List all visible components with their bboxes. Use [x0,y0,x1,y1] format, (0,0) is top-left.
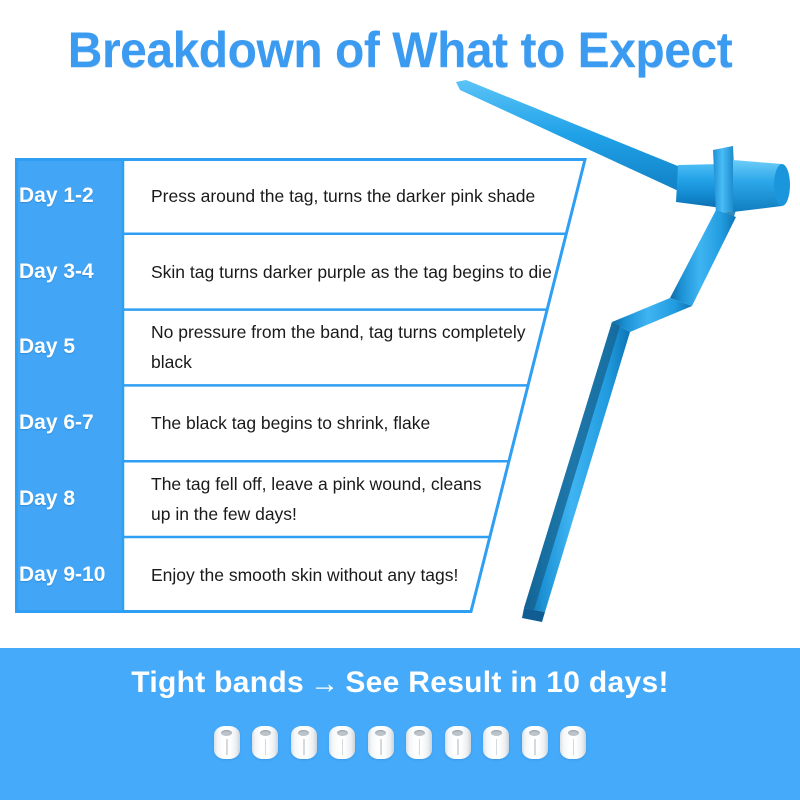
table-row: Day 8 The tag fell off, leave a pink wou… [15,461,590,537]
band-hole-icon [529,730,540,736]
day-cell: Day 6-7 [15,385,123,461]
band-hole-icon [491,730,502,736]
arrow-icon: → [304,668,345,701]
description-text: The tag fell off, leave a pink wound, cl… [123,461,514,537]
tool-collar [713,146,736,215]
tool-barrel [676,164,722,208]
bottom-banner: Tight bands→See Result in 10 days! [0,648,800,800]
table-row: Day 3-4 Skin tag turns darker purple as … [15,234,590,310]
description-cell: The black tag begins to shrink, flake [123,385,533,461]
band-seam [380,739,382,755]
banner-text-right: See Result in 10 days! [345,666,668,699]
band-item [214,726,240,759]
table-row: Day 1-2 Press around the tag, turns the … [15,158,590,234]
description-cell: The tag fell off, leave a pink wound, cl… [123,461,514,537]
description-text: No pressure from the band, tag turns com… [123,310,552,386]
description-cell: No pressure from the band, tag turns com… [123,310,552,386]
band-seam [226,739,228,755]
description-text: Enjoy the smooth skin without any tags! [123,537,495,613]
band-item [560,726,586,759]
day-label: Day 1-2 [19,184,94,208]
tool-nozzle-cap [774,164,790,206]
band-item [291,726,317,759]
band-seam [265,739,267,755]
day-cell: Day 9-10 [15,537,123,613]
band-seam [534,739,536,755]
banner-text-left: Tight bands [131,666,304,699]
day-label: Day 6-7 [19,411,94,435]
band-seam [419,739,421,755]
table-row: Day 5 No pressure from the band, tag tur… [15,310,590,386]
band-item [522,726,548,759]
expectation-table: Day 1-2 Press around the tag, turns the … [15,158,590,613]
tool-handle-bend [612,298,692,332]
band-row [0,726,800,759]
band-seam [303,739,305,755]
band-seam [342,739,344,755]
day-cell: Day 8 [15,461,123,537]
tool-nozzle [733,160,782,212]
day-cell: Day 1-2 [15,158,123,234]
band-item [445,726,471,759]
day-label: Day 5 [19,335,75,359]
tool-handle-upper [670,210,736,306]
band-seam [457,739,459,755]
band-hole-icon [337,730,348,736]
infographic-page: Breakdown of What to Expect [0,0,800,800]
banner-headline: Tight bands→See Result in 10 days! [0,666,800,700]
band-item [368,726,394,759]
description-cell: Press around the tag, turns the darker p… [123,158,590,234]
table-row: Day 9-10 Enjoy the smooth skin without a… [15,537,590,613]
day-label: Day 3-4 [19,260,94,284]
band-hole-icon [260,730,271,736]
band-hole-icon [375,730,386,736]
page-title: Breakdown of What to Expect [16,22,784,78]
day-label: Day 8 [19,487,75,511]
table-row: Day 6-7 The black tag begins to shrink, … [15,385,590,461]
description-text: Press around the tag, turns the darker p… [123,158,590,234]
band-item [252,726,278,759]
day-cell: Day 5 [15,310,123,386]
description-text: Skin tag turns darker purple as the tag … [123,234,571,310]
description-cell: Skin tag turns darker purple as the tag … [123,234,571,310]
day-label: Day 9-10 [19,563,105,587]
tool-collar-shade [716,210,736,223]
band-seam [496,739,498,755]
band-item [483,726,509,759]
band-hole-icon [298,730,309,736]
band-item [406,726,432,759]
band-seam [573,739,575,755]
band-hole-icon [414,730,425,736]
description-text: The black tag begins to shrink, flake [123,385,533,461]
band-hole-icon [568,730,579,736]
description-cell: Enjoy the smooth skin without any tags! [123,537,495,613]
band-hole-icon [221,730,232,736]
band-hole-icon [452,730,463,736]
table-rows: Day 1-2 Press around the tag, turns the … [15,158,590,613]
band-item [329,726,355,759]
day-cell: Day 3-4 [15,234,123,310]
